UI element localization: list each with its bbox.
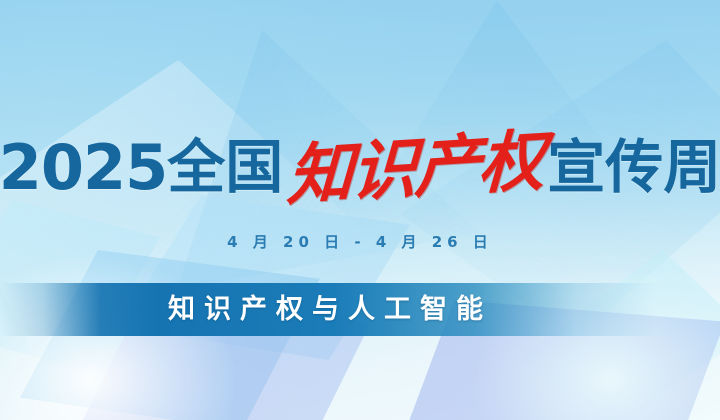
event-dateline: 4 月 20 日 - 4 月 26 日 — [0, 231, 720, 252]
headline-suffix: 宣传周 — [547, 139, 720, 197]
headline-year: 2025 — [0, 137, 167, 199]
headline-emphasis-calligraphy: 知识产权 — [286, 127, 544, 209]
theme-banner-bar: 知识产权与人工智能 — [0, 283, 720, 336]
headline-prefix: 全国 — [167, 139, 283, 197]
promo-poster: 2025 全国 知识产权 宣传周 4 月 20 日 - 4 月 26 日 知识产… — [0, 0, 720, 420]
theme-slogan: 知识产权与人工智能 — [168, 296, 492, 323]
poster-headline: 2025 全国 知识产权 宣传周 — [0, 126, 720, 210]
poster-content: 2025 全国 知识产权 宣传周 4 月 20 日 - 4 月 26 日 知识产… — [0, 0, 720, 420]
